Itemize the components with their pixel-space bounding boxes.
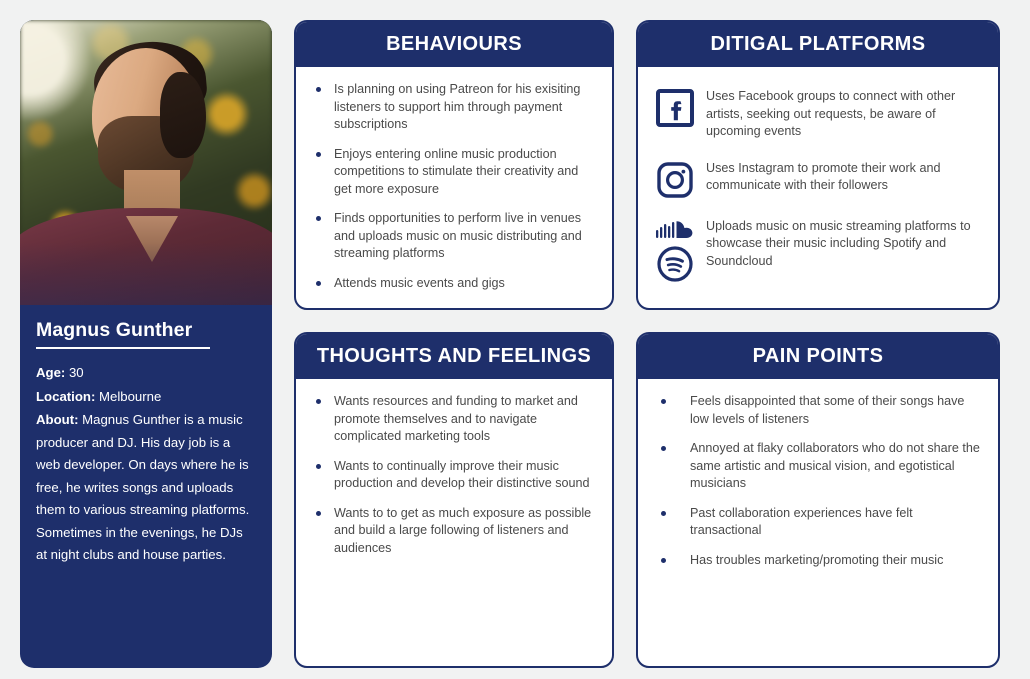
- platform-row-facebook: Uses Facebook groups to connect with oth…: [644, 87, 984, 141]
- platform-icon-group: [644, 87, 706, 127]
- persona-photo: [20, 20, 272, 305]
- persona-age-label: Age:: [36, 365, 65, 380]
- platform-icon-group: [644, 159, 706, 199]
- list-item: Finds opportunities to perform live in v…: [312, 210, 596, 263]
- digital-platforms-body: Uses Facebook groups to connect with oth…: [638, 67, 998, 310]
- platform-text: Uses Facebook groups to connect with oth…: [706, 87, 984, 141]
- photo-bottom-fade: [20, 20, 272, 305]
- list-item: Has troubles marketing/promoting their m…: [654, 552, 982, 570]
- facebook-icon: [656, 89, 694, 127]
- digital-platforms-title: DITIGAL PLATFORMS: [636, 20, 1000, 67]
- pain-points-title: PAIN POINTS: [636, 332, 1000, 379]
- persona-about-row: About: Magnus Gunther is a music produce…: [36, 409, 256, 567]
- list-item: Wants resources and funding to market an…: [312, 393, 596, 446]
- platform-row-instagram: Uses Instagram to promote their work and…: [644, 159, 984, 199]
- soundcloud-icon: [655, 219, 695, 241]
- thoughts-and-feelings-panel: THOUGHTS AND FEELINGS Wants resources an…: [294, 332, 614, 668]
- persona-name: Magnus Gunther: [36, 319, 192, 342]
- spotify-icon: [656, 245, 694, 283]
- behaviours-panel: BEHAVIOURS Is planning on using Patreon …: [294, 20, 614, 310]
- thoughts-and-feelings-title: THOUGHTS AND FEELINGS: [294, 332, 614, 379]
- instagram-icon: [656, 161, 694, 199]
- pain-points-body: Feels disappointed that some of their so…: [638, 379, 998, 591]
- digital-platforms-panel: DITIGAL PLATFORMS Uses Facebook groups t…: [636, 20, 1000, 310]
- platform-row-streaming: Uploads music on music streaming platfor…: [644, 217, 984, 283]
- list-item: Past collaboration experiences have felt…: [654, 505, 982, 540]
- persona-about-value: Magnus Gunther is a music producer and D…: [36, 412, 249, 562]
- pain-points-list: Feels disappointed that some of their so…: [654, 393, 982, 569]
- list-item: Annoyed at flaky collaborators who do no…: [654, 440, 982, 493]
- persona-details: Magnus Gunther Age: 30 Location: Melbour…: [20, 305, 272, 567]
- list-item: Attends music events and gigs: [312, 275, 596, 293]
- behaviours-list: Is planning on using Patreon for his exi…: [312, 81, 596, 292]
- persona-profile-card: Magnus Gunther Age: 30 Location: Melbour…: [20, 20, 272, 668]
- persona-age-row: Age: 30: [36, 362, 256, 385]
- list-item: Wants to continually improve their music…: [312, 458, 596, 493]
- thoughts-and-feelings-list: Wants resources and funding to market an…: [312, 393, 596, 557]
- persona-location-value: Melbourne: [95, 389, 161, 404]
- thoughts-and-feelings-body: Wants resources and funding to market an…: [296, 379, 612, 579]
- pain-points-panel: PAIN POINTS Feels disappointed that some…: [636, 332, 1000, 668]
- persona-location-label: Location:: [36, 389, 95, 404]
- platform-icon-group: [644, 217, 706, 283]
- list-item: Feels disappointed that some of their so…: [654, 393, 982, 428]
- platform-text: Uploads music on music streaming platfor…: [706, 217, 984, 271]
- list-item: Wants to to get as much exposure as poss…: [312, 505, 596, 558]
- persona-name-underline: [36, 347, 210, 349]
- persona-about-label: About:: [36, 412, 78, 427]
- behaviours-title: BEHAVIOURS: [294, 20, 614, 67]
- list-item: Enjoys entering online music production …: [312, 146, 596, 199]
- persona-location-row: Location: Melbourne: [36, 386, 256, 409]
- list-item: Is planning on using Patreon for his exi…: [312, 81, 596, 134]
- persona-age-value: 30: [65, 365, 83, 380]
- platform-text: Uses Instagram to promote their work and…: [706, 159, 984, 195]
- behaviours-body: Is planning on using Patreon for his exi…: [296, 67, 612, 310]
- persona-document: Magnus Gunther Age: 30 Location: Melbour…: [0, 0, 1030, 679]
